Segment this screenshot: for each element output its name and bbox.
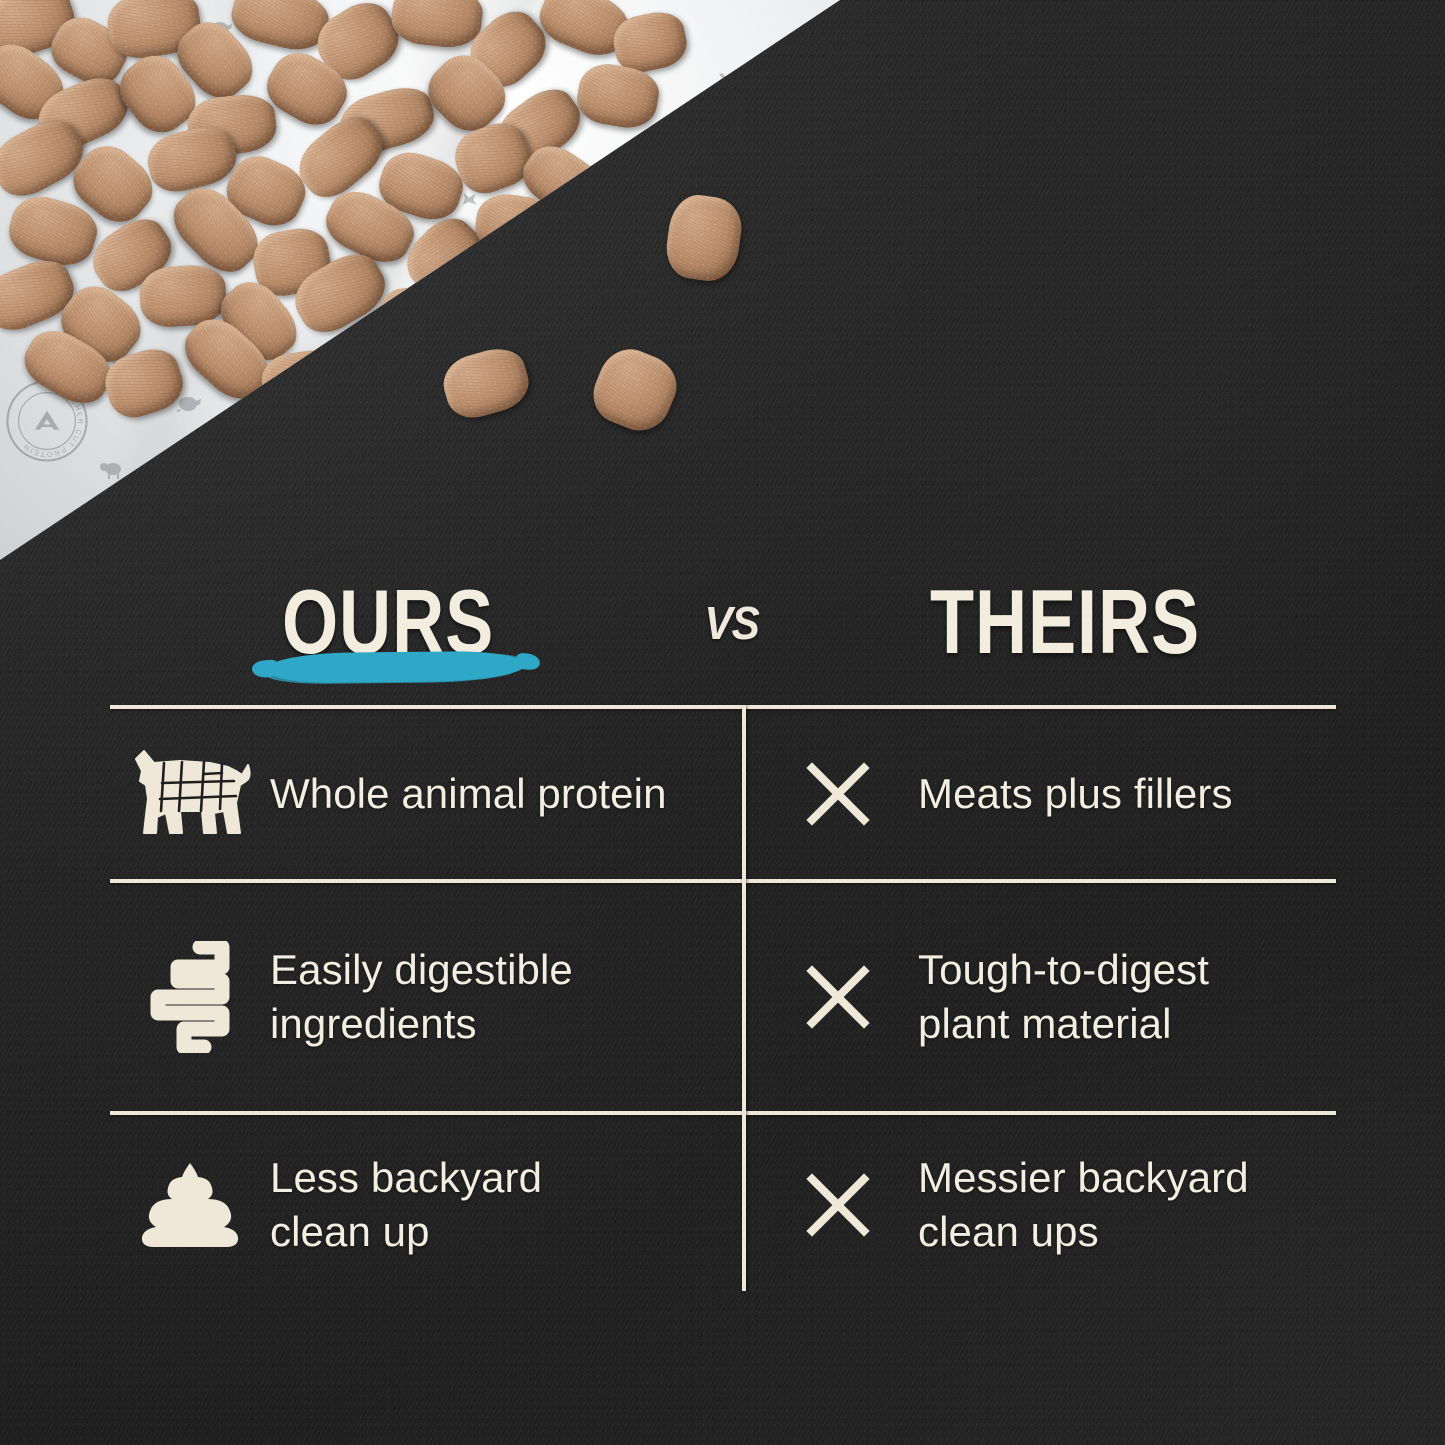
theirs-row2-text: Tough-to-digest plant material [918, 943, 1209, 1051]
theirs-row3-line2: clean ups [918, 1205, 1249, 1259]
ours-row1-text: Whole animal protein [270, 767, 667, 821]
table-column-divider [742, 705, 746, 1291]
theirs-row1-text: Meats plus fillers [918, 767, 1233, 821]
x-mark-icon [758, 760, 918, 828]
table-row: Easily digestible ingredients [110, 883, 740, 1111]
theirs-heading: THEIRS [930, 570, 1200, 674]
theirs-row2-line2: plant material [918, 997, 1209, 1051]
table-row: Meats plus fillers [758, 709, 1336, 879]
poop-icon [110, 1159, 270, 1251]
intestine-icon [110, 941, 270, 1053]
table-row: Less backyard clean up [110, 1115, 740, 1295]
comparison-table: Whole animal protein Meats plus fillers … [110, 705, 1336, 1295]
theirs-row3-line1: Messier backyard [918, 1151, 1249, 1205]
ours-row2-line1: Easily digestible [270, 943, 573, 997]
ours-row3-text: Less backyard clean up [270, 1151, 542, 1259]
ours-row3-line1: Less backyard [270, 1151, 542, 1205]
ours-row2-text: Easily digestible ingredients [270, 943, 573, 1051]
ours-row2-line2: ingredients [270, 997, 573, 1051]
table-row: Whole animal protein [110, 709, 740, 879]
theirs-row3-text: Messier backyard clean ups [918, 1151, 1249, 1259]
table-row: Tough-to-digest plant material [758, 883, 1336, 1111]
vs-label: VS [704, 596, 759, 650]
ours-row3-line2: clean up [270, 1205, 542, 1259]
table-row: Messier backyard clean ups [758, 1115, 1336, 1295]
theirs-row2-line1: Tough-to-digest [918, 943, 1209, 997]
product-comparison-infographic: BUTCHER CUT PROTEIN [0, 0, 1445, 1445]
x-mark-icon [758, 963, 918, 1031]
x-mark-icon [758, 1171, 918, 1239]
cow-butcher-chart-icon [110, 741, 270, 847]
